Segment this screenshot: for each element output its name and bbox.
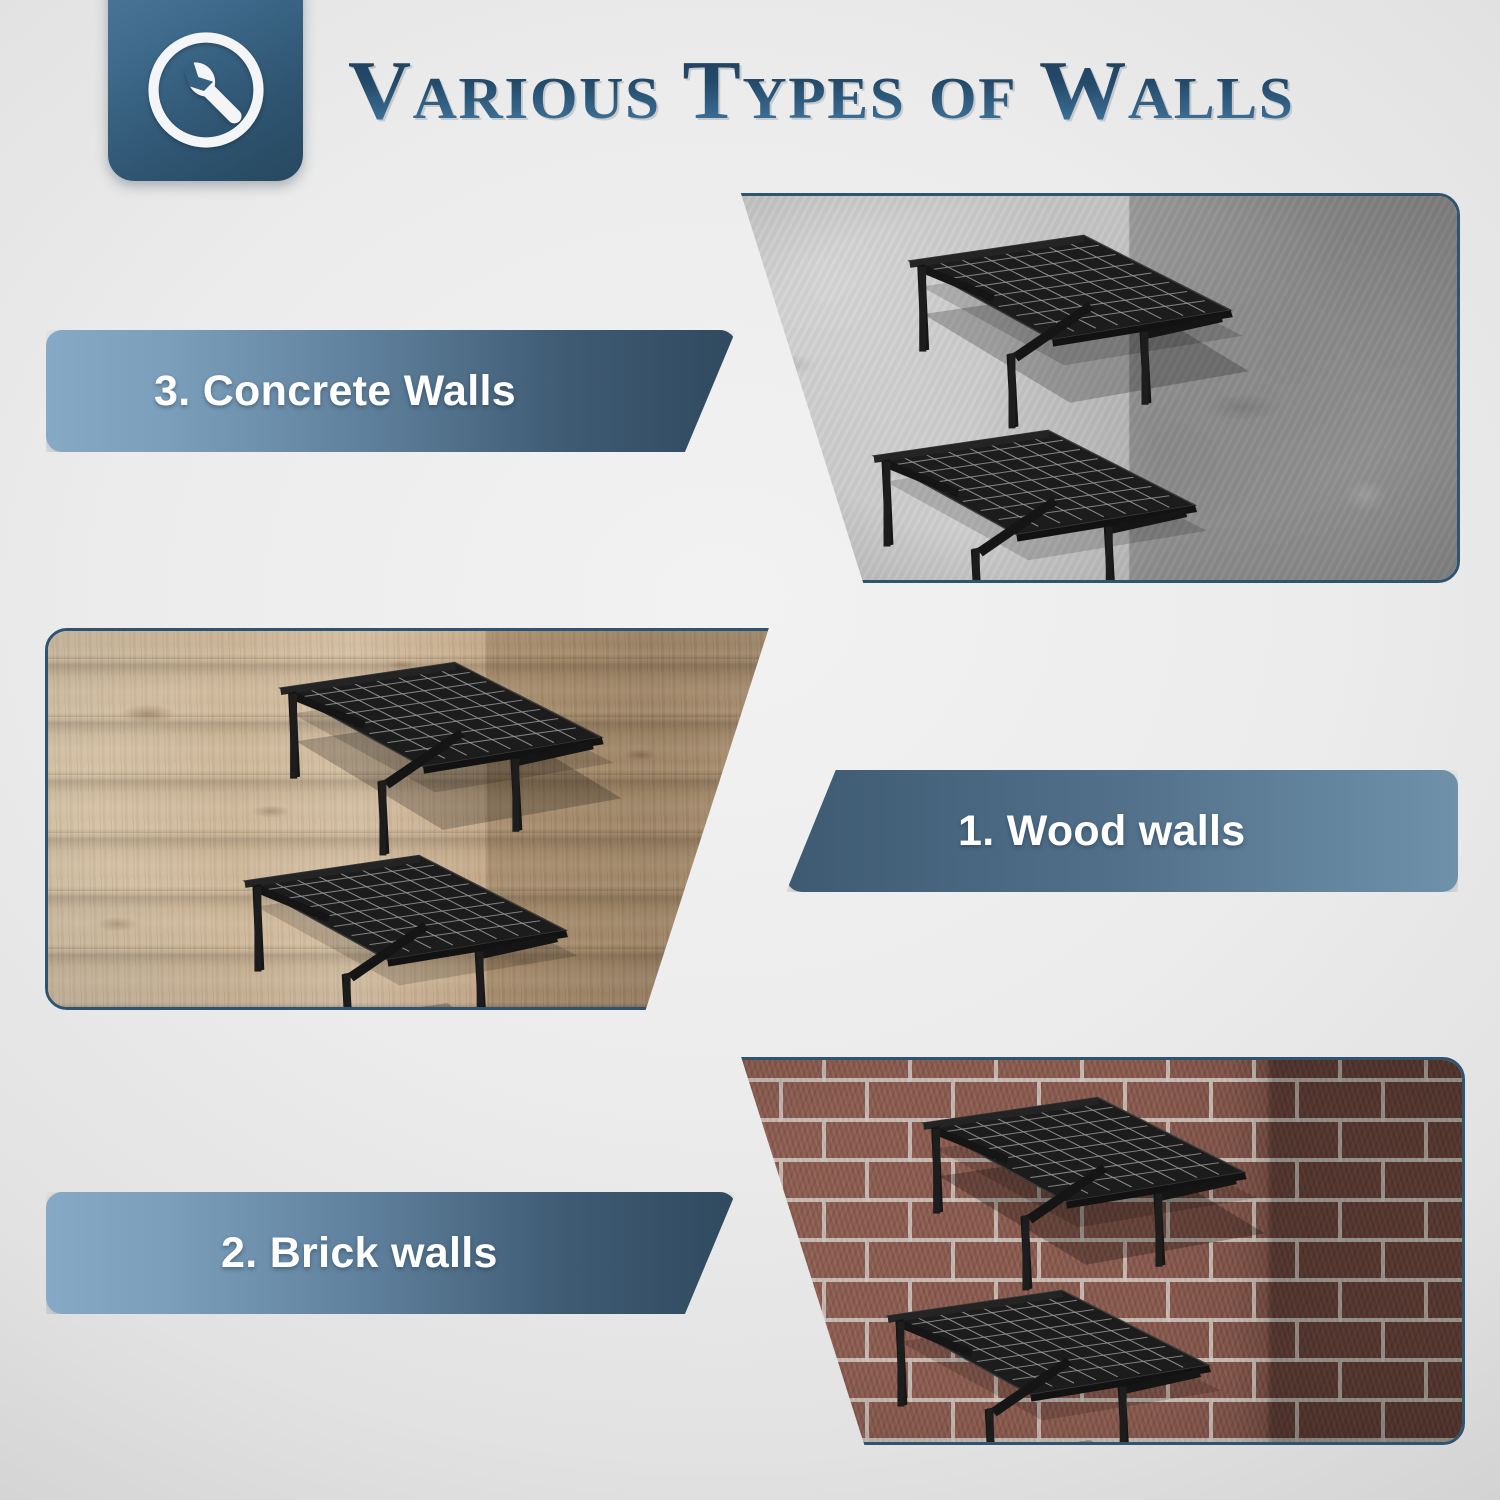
concrete-wall-photo (693, 196, 1457, 580)
shelf-units-brick (693, 1060, 1462, 1442)
banner-label: 1. Wood walls (786, 770, 1458, 892)
panel-frame (690, 1057, 1465, 1445)
panel-brick-walls (690, 1057, 1465, 1445)
banner-label: 3. Concrete Walls (46, 330, 736, 452)
panel-frame (690, 193, 1460, 583)
panel-frame (45, 628, 820, 1010)
panel-concrete-walls (690, 193, 1460, 583)
shelf-units-concrete (693, 196, 1457, 580)
wood-wall-photo (48, 631, 817, 1007)
banner-label: 2. Brick walls (46, 1192, 736, 1314)
label-banner-brick-walls[interactable]: 2. Brick walls (46, 1192, 736, 1314)
brand-logo-badge (108, 0, 303, 181)
brick-wall-photo (693, 1060, 1462, 1442)
page-title: Various Types of Walls (348, 38, 1471, 144)
label-banner-concrete-walls[interactable]: 3. Concrete Walls (46, 330, 736, 452)
panel-wood-walls (45, 628, 820, 1010)
page-header: Various Types of Walls Various Types of … (0, 0, 1500, 200)
shelf-units-wood (48, 631, 817, 1007)
label-banner-wood-walls[interactable]: 1. Wood walls (786, 770, 1458, 892)
wrench-in-circle-icon (142, 26, 270, 154)
